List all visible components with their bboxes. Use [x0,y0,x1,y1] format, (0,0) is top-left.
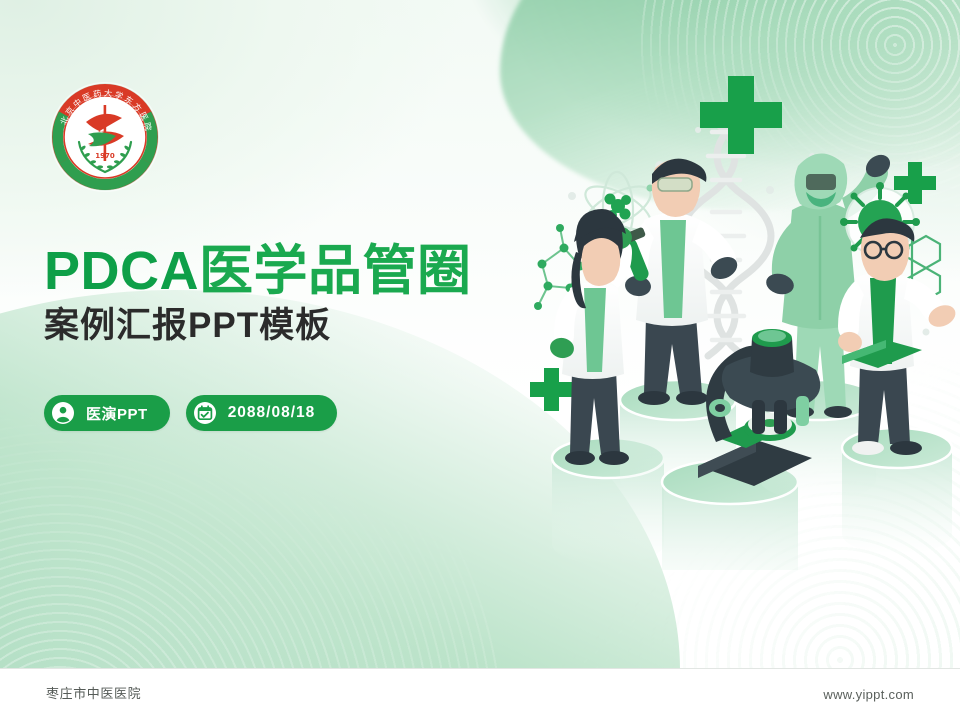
presentation-slide: 北京中医药大学东方医院 BEIJING UNIVERSITY OF CHINES… [0,0,960,720]
page-title: PDCA医学品管圈 [44,243,564,299]
title-latin: PDCA [44,241,199,301]
page-subtitle: 案例汇报PPT模板 [44,307,564,346]
title-block: PDCA医学品管圈 案例汇报PPT模板 [44,243,564,346]
author-pill[interactable]: 医演PPT [44,395,170,431]
person-icon [51,401,75,425]
university-hospital-emblem: 北京中医药大学东方医院 BEIJING UNIVERSITY OF CHINES… [46,78,164,196]
date-pill-label: 2088/08/18 [228,404,316,422]
medical-cross-large [700,76,782,154]
medical-research-team-illustration [512,70,960,570]
meta-pill-group: 医演PPT 2088/08/18 [44,395,337,431]
date-pill[interactable]: 2088/08/18 [186,395,338,431]
title-cjk: 医学品管圈 [199,241,472,301]
svg-text:1970: 1970 [95,152,115,160]
footer-divider [0,668,960,669]
author-pill-label: 医演PPT [86,403,148,424]
footer-website[interactable]: www.yippt.com [823,687,914,702]
calendar-icon [193,401,217,425]
footer-band [0,668,960,720]
footer-organization: 枣庄市中医医院 [46,683,141,702]
